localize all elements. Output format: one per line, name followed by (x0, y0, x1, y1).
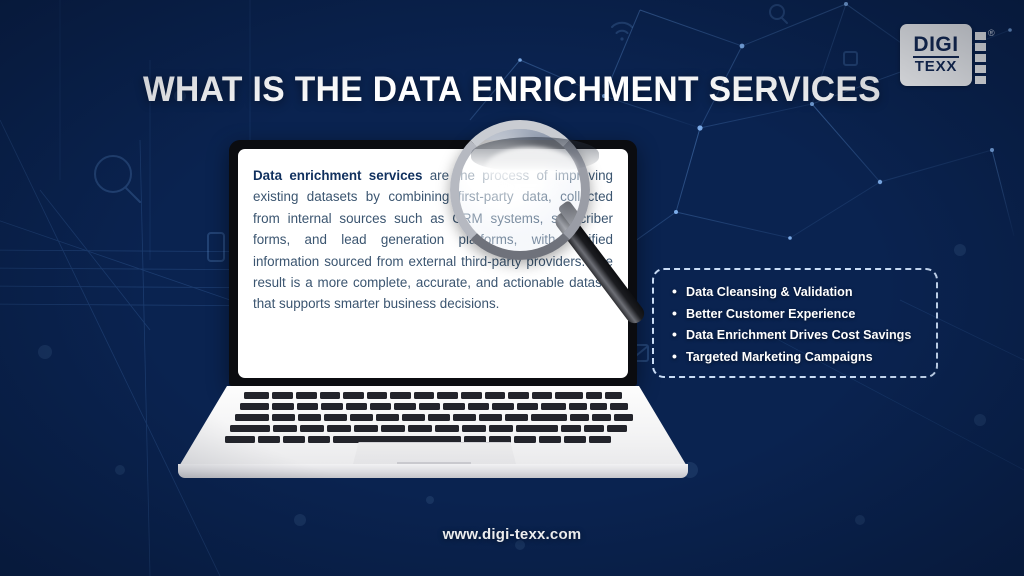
list-item: Targeted Marketing Campaigns (670, 347, 924, 369)
magnifier-lens-glare (485, 147, 577, 191)
list-item: Data Enrichment Drives Cost Savings (670, 325, 924, 347)
list-item: Better Customer Experience (670, 304, 924, 326)
laptop-front-edge (178, 464, 688, 478)
poster-canvas: WHAT IS THE DATA ENRICHMENT SERVICES DIG… (0, 0, 1024, 576)
page-title: WHAT IS THE DATA ENRICHMENT SERVICES (20, 70, 1003, 110)
laptop-base (178, 386, 688, 480)
registered-trademark-mark: ® (988, 29, 995, 38)
screen-paragraph-lead: Data enrichment services (253, 168, 422, 183)
benefits-box: Data Cleansing & Validation Better Custo… (652, 268, 938, 378)
logo-card: DIGI TEXX (900, 24, 972, 86)
benefits-list: Data Cleansing & Validation Better Custo… (670, 282, 924, 368)
footer-website: www.digi-texx.com (0, 526, 1024, 543)
laptop-keyboard (178, 390, 688, 440)
magnifying-glass-icon (444, 118, 664, 348)
list-item: Data Cleansing & Validation (670, 282, 924, 304)
logo-text-texx: TEXX (915, 59, 957, 75)
magnifier-lens (450, 120, 590, 260)
logo-text-digi: DIGI (913, 35, 958, 54)
logo-filmstrip-icon (975, 32, 986, 87)
digitexx-logo: DIGI TEXX ® (900, 24, 1000, 86)
